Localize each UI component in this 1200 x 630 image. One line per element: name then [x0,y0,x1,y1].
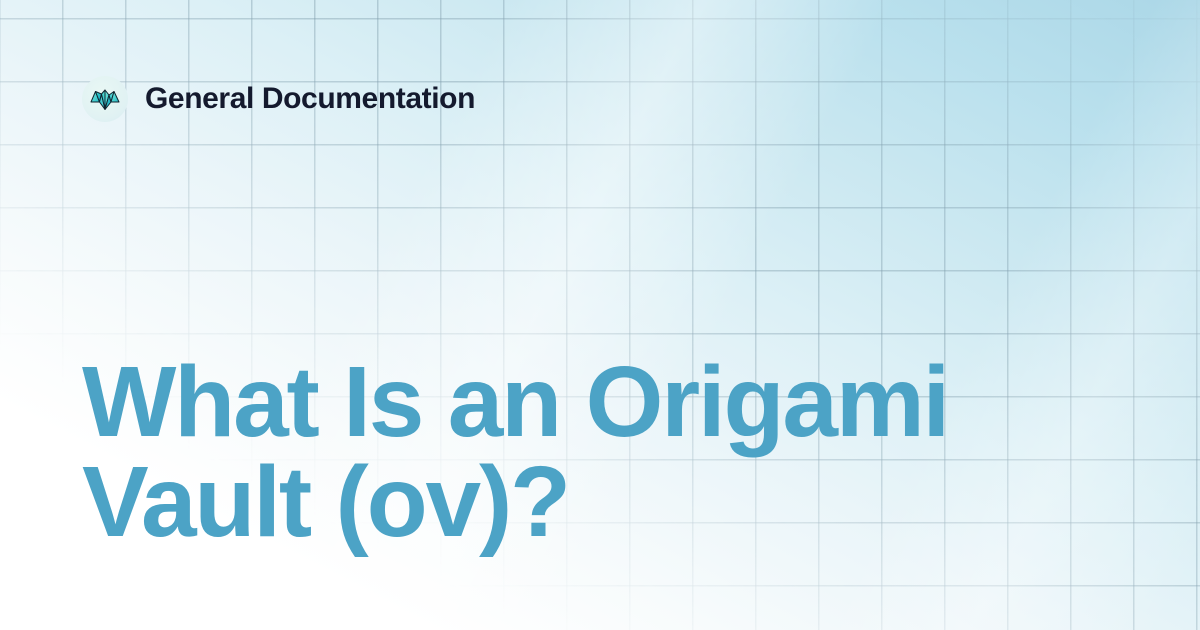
brand: General Documentation [82,76,475,122]
brand-name: General Documentation [145,84,475,114]
origami-mountain-logo-icon [82,76,128,122]
og-card: General Documentation What Is an Origami… [0,0,1200,630]
card-content: General Documentation What Is an Origami… [0,0,1200,630]
page-title: What Is an Origami Vault (ov)? [82,352,962,552]
